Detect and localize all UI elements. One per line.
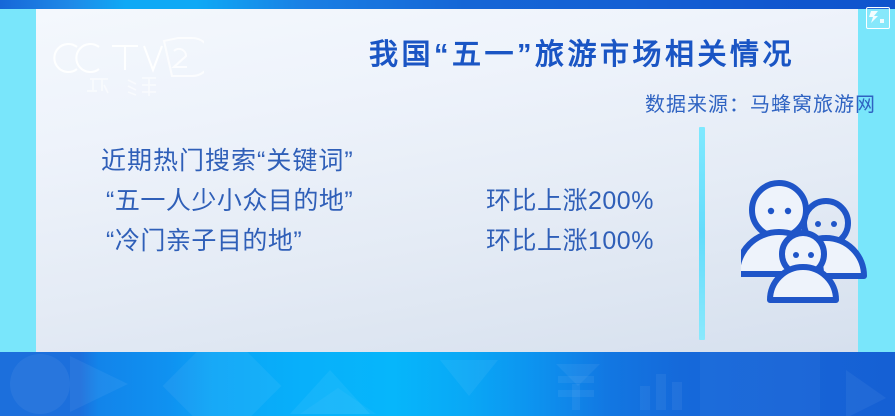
family-group-icon — [741, 175, 873, 307]
cctv-channel-logo-icon — [44, 25, 204, 97]
content-panel: 我国“五一”旅游市场相关情况 数据来源：马蜂窝旅游网 近期热门搜索“关键词” “… — [36, 9, 858, 352]
top-accent-band — [0, 0, 895, 9]
watermark-badge-icon — [866, 7, 890, 29]
keyword-value: 环比上涨200% — [486, 181, 686, 217]
bottom-decorative-bar — [0, 352, 895, 416]
data-source-label: 数据来源：马蜂窝旅游网 — [436, 88, 876, 117]
keyword-stat-list: “五一人少小众目的地” 环比上涨200% “冷门亲子目的地” 环比上涨100% — [106, 181, 691, 261]
list-item: “冷门亲子目的地” 环比上涨100% — [106, 221, 691, 261]
left-cyan-strip — [0, 9, 36, 352]
page-title: 我国“五一”旅游市场相关情况 — [282, 31, 882, 73]
list-item: “五一人少小众目的地” 环比上涨200% — [106, 181, 691, 221]
keyword-term: “五一人少小众目的地” — [106, 181, 486, 217]
broadcast-graphic-screen: 我国“五一”旅游市场相关情况 数据来源：马蜂窝旅游网 近期热门搜索“关键词” “… — [0, 0, 895, 416]
vertical-divider — [699, 127, 705, 340]
keyword-value: 环比上涨100% — [486, 221, 686, 257]
section-heading: 近期热门搜索“关键词” — [101, 141, 354, 177]
keyword-term: “冷门亲子目的地” — [106, 221, 486, 257]
